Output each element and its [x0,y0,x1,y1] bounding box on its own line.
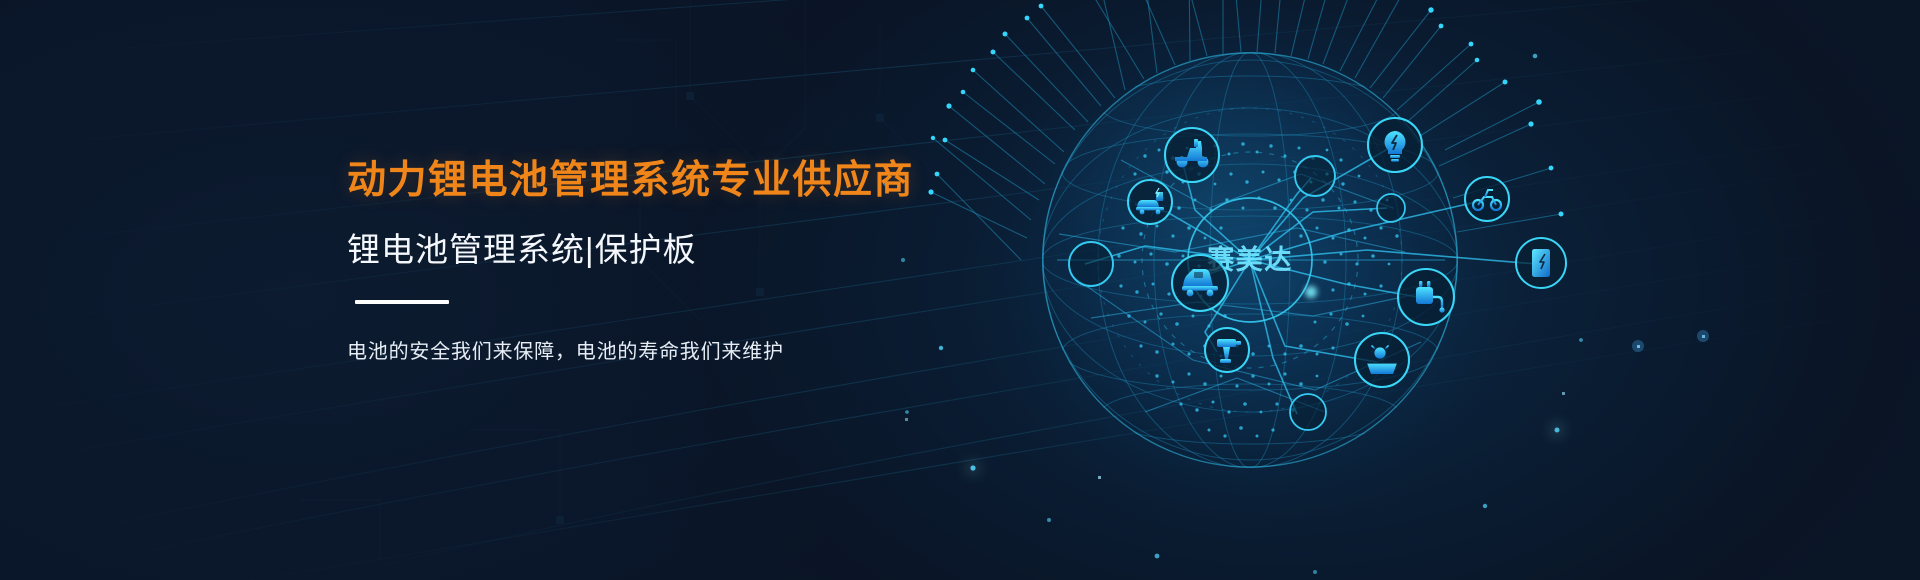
banner-tagline: 电池的安全我们来保障，电池的寿命我们来维护 [347,335,1047,364]
banner-copy: 动力锂电池管理系统专业供应商 锂电池管理系统|保护板 电池的安全我们来保障，电池… [347,160,1047,364]
page-title: 动力锂电池管理系统专业供应商 [347,160,1047,202]
title-divider [355,300,449,304]
hero-banner: 赛美达 [0,0,1920,580]
banner-subtitle: 锂电池管理系统|保护板 [347,232,1047,268]
